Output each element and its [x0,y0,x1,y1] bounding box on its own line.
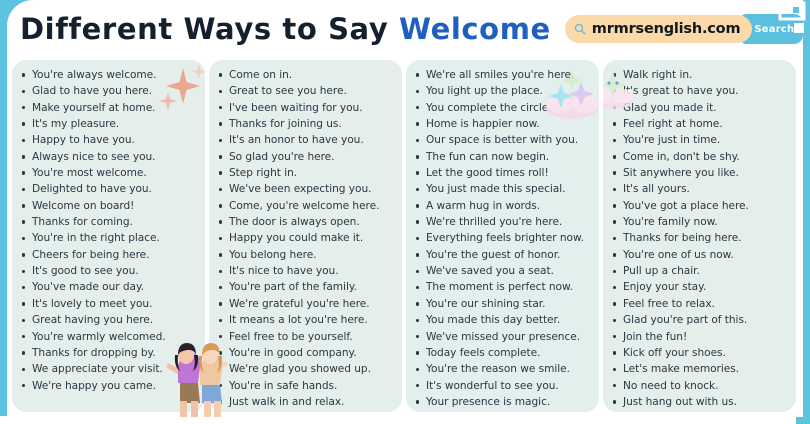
phrase-item: You've made our day. [20,279,201,295]
phrase-item: Welcome on board! [20,198,201,214]
phrase-item: We've missed your presence. [414,329,595,345]
phrase-item: Enjoy your stay. [611,279,792,295]
header: Different Ways to Say Welcome Search mrm… [0,0,796,58]
phrase-item: You're in safe hands. [217,378,398,394]
card-bottom-strip [0,416,796,424]
phrase-item: It's wonderful to see you. [414,378,595,394]
phrase-item: You light up the place. [414,83,595,99]
poster-root: Different Ways to Say Welcome Search mrm… [0,0,810,424]
search-icon [574,23,586,35]
phrase-list-4: Walk right in.It's great to have you.Gla… [611,67,792,412]
phrase-item: We're all smiles you're here. [414,67,595,83]
page-title-main: Different Ways to Say [20,12,399,46]
phrase-item: Join the fun! [611,329,792,345]
phrase-item: We appreciate your visit. [20,361,201,377]
page-title: Different Ways to Say Welcome [20,15,551,44]
phrase-item: We're happy you came. [20,378,201,394]
phrase-item: You're the guest of honor. [414,247,595,263]
phrase-item: Just hang out with us. [611,394,792,410]
phrase-columns: You're always welcome.Glad to have you h… [12,60,796,412]
phrase-item: Our space is better with you. [414,132,595,148]
search-url-text: mrmrsenglish.com [592,21,741,37]
phrase-list-2: Come on in.Great to see you here.I've be… [217,67,398,412]
phrase-item: Always nice to see you. [20,149,201,165]
phrase-item: You're warmly welcomed. [20,329,201,345]
search-input[interactable]: mrmrsenglish.com [565,15,753,43]
phrase-item: Come on in. [217,67,398,83]
phrase-item: Sit anywhere you like. [611,165,792,181]
phrase-item: Feel free to relax. [611,296,792,312]
phrase-item: We've saved you a seat. [414,263,595,279]
phrase-item: Great having you here. [20,312,201,328]
phrase-item: Feel free to be yourself. [217,329,398,345]
phrase-item: You're most welcome. [20,165,201,181]
phrase-item: The place is yours too [611,410,792,412]
phrase-item: You're one of us now. [611,247,792,263]
phrase-item: You just made this special. [414,181,595,197]
phrase-item: The fun can now begin. [414,149,595,165]
phrase-item: You're just in time. [611,132,792,148]
phrase-item: You've got a place here. [611,198,792,214]
phrase-item: I've been waiting for you. [217,100,398,116]
phrase-item: Come, you're welcome here. [217,198,398,214]
phrase-column-3: We're all smiles you're here.You light u… [406,60,599,412]
phrase-item: Everything feels brighter now. [414,230,595,246]
phrase-item: You're family now. [611,214,792,230]
phrase-item: Feel right at home. [611,116,792,132]
phrase-item: You're in good company. [217,345,398,361]
phrase-item: The door is always open. [217,214,398,230]
phrase-column-2: Come on in.Great to see you here.I've be… [209,60,402,412]
phrase-item: Make yourself at home. [20,100,201,116]
phrase-item: It's great to have you. [611,83,792,99]
phrase-list-3: We're all smiles you're here.You light u… [414,67,595,410]
phrase-item: Kick off your shoes. [611,345,792,361]
search-area: Search mrmrsenglish.com [565,14,803,44]
phrase-item: Pull up a chair. [611,263,792,279]
phrase-list-1: You're always welcome.Glad to have you h… [20,67,201,394]
phrase-item: Thanks for being here. [611,230,792,246]
phrase-item: It's all yours. [611,181,792,197]
phrase-item: You're part of the family. [217,279,398,295]
phrase-item: Today feels complete. [414,345,595,361]
phrase-item: Thanks for coming. [20,214,201,230]
phrase-item: Let the good times roll! [414,165,595,181]
phrase-item: Home is happier now. [414,116,595,132]
phrase-item: It's nice to have you. [217,263,398,279]
phrase-item: Happy to have you. [20,132,201,148]
phrase-item: It's good to see you. [20,263,201,279]
phrase-item: Glad you're part of this. [611,312,792,328]
phrase-item: The moment is perfect now. [414,279,595,295]
phrase-item: Let's make memories. [611,361,792,377]
phrase-item: You're in the right place. [20,230,201,246]
phrase-item: We've been expecting you. [217,181,398,197]
phrase-item: We're thrilled you're here. [414,214,595,230]
phrase-item: You made this day better. [414,312,595,328]
phrase-item: We're glad you showed up. [217,361,398,377]
phrase-item: Just walk in and relax. [217,394,398,410]
phrase-item: It's my pleasure. [20,116,201,132]
phrase-column-1: You're always welcome.Glad to have you h… [12,60,205,412]
phrase-item: We're grateful you're here. [217,296,398,312]
phrase-item: Step right in. [217,165,398,181]
phrase-item: You belong here. [217,247,398,263]
phrase-item: Glad to have you here. [20,83,201,99]
phrase-column-4: Walk right in.It's great to have you.Gla… [603,60,796,412]
phrase-item: You're our shining star. [414,296,595,312]
phrase-item: Thanks for joining us. [217,116,398,132]
phrase-item: Great to see you here. [217,83,398,99]
phrase-item: You're the reason we smile. [414,361,595,377]
phrase-item: Happy you could make it. [217,230,398,246]
phrase-item: You're always welcome. [20,67,201,83]
phrase-item: You complete the circle. [414,100,595,116]
phrase-item: It's wonderful to see you. [217,410,398,412]
phrase-item: Glad you made it. [611,100,792,116]
phrase-item: It means a lot you're here. [217,312,398,328]
phrase-item: A warm hug in words. [414,198,595,214]
phrase-item: Cheers for being here. [20,247,201,263]
phrase-item: Thanks for dropping by. [20,345,201,361]
phrase-item: Come in, don't be shy. [611,149,792,165]
phrase-item: So glad you're here. [217,149,398,165]
phrase-item: No need to knock. [611,378,792,394]
phrase-item: It's an honor to have you. [217,132,398,148]
page-title-accent: Welcome [399,12,551,46]
phrase-item: Delighted to have you. [20,181,201,197]
phrase-item: Walk right in. [611,67,792,83]
phrase-item: It's lovely to meet you. [20,296,201,312]
phrase-item: Your presence is magic. [414,394,595,410]
